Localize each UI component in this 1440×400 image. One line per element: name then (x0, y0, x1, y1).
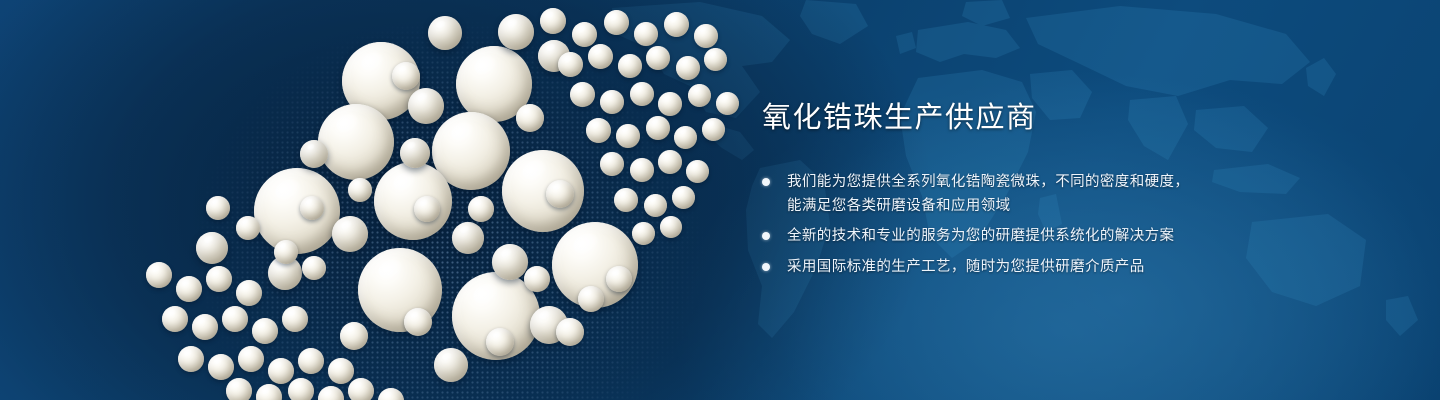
banner-copy: 氧化锆珠生产供应商 我们能为您提供全系列氧化锆陶瓷微珠，不同的密度和硬度， 能满… (762, 100, 1282, 286)
feature-text-1a: 我们能为您提供全系列氧化锆陶瓷微珠，不同的密度和硬度， (787, 174, 1189, 190)
page-title: 氧化锆珠生产供应商 (762, 100, 1282, 137)
feature-list: 我们能为您提供全系列氧化锆陶瓷微珠，不同的密度和硬度， 能满足您各类研磨设备和应… (762, 171, 1282, 279)
list-item: 全新的技术和专业的服务为您的研磨提供系统化的解决方案 (762, 225, 1282, 248)
feature-text-3a: 采用国际标准的生产工艺，随时为您提供研磨介质产品 (787, 259, 1145, 275)
list-item: 采用国际标准的生产工艺，随时为您提供研磨介质产品 (762, 256, 1282, 279)
bullet-dot-icon (762, 263, 770, 271)
bullet-dot-icon (762, 232, 770, 240)
hero-banner: 氧化锆珠生产供应商 我们能为您提供全系列氧化锆陶瓷微珠，不同的密度和硬度， 能满… (0, 0, 1440, 400)
list-item: 我们能为您提供全系列氧化锆陶瓷微珠，不同的密度和硬度， 能满足您各类研磨设备和应… (762, 171, 1282, 218)
feature-text-2a: 全新的技术和专业的服务为您的研磨提供系统化的解决方案 (787, 228, 1174, 244)
bullet-dot-icon (762, 178, 770, 186)
zirconia-beads-image (0, 0, 760, 400)
feature-text-1b: 能满足您各类研磨设备和应用领域 (787, 195, 1282, 218)
